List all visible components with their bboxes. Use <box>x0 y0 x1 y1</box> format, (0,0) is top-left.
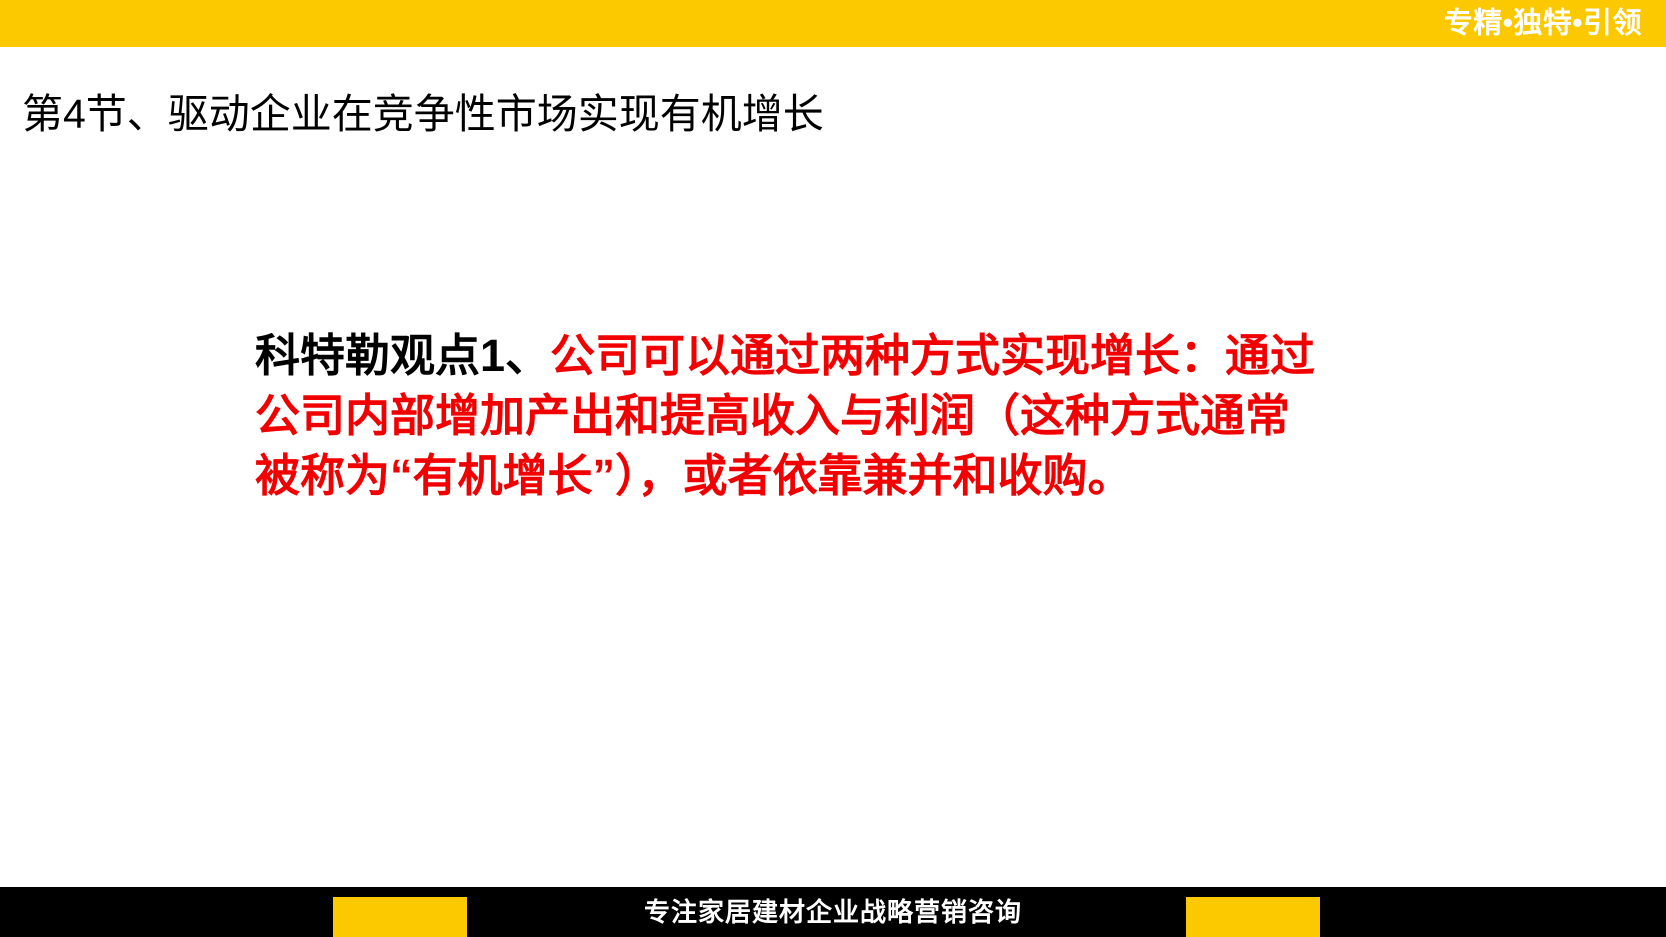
footer-text: 专注家居建材企业战略营销咨询 <box>0 899 1666 925</box>
banner-tagline: 专精•独特•引领 <box>1444 9 1642 38</box>
slide-title: 第4节、驱动企业在竞争性市场实现有机增长 <box>22 90 824 139</box>
top-banner: 专精•独特•引领 <box>0 0 1666 47</box>
presentation-slide: 专精•独特•引领 第4节、驱动企业在竞争性市场实现有机增长 科特勒观点1、公司可… <box>0 0 1666 937</box>
body-lead-label: 科特勒观点1、 <box>255 330 550 381</box>
footer-bar: 专注家居建材企业战略营销咨询 <box>0 887 1666 937</box>
body-text-block: 科特勒观点1、公司可以通过两种方式实现增长：通过公司内部增加产出和提高收入与利润… <box>255 326 1330 506</box>
